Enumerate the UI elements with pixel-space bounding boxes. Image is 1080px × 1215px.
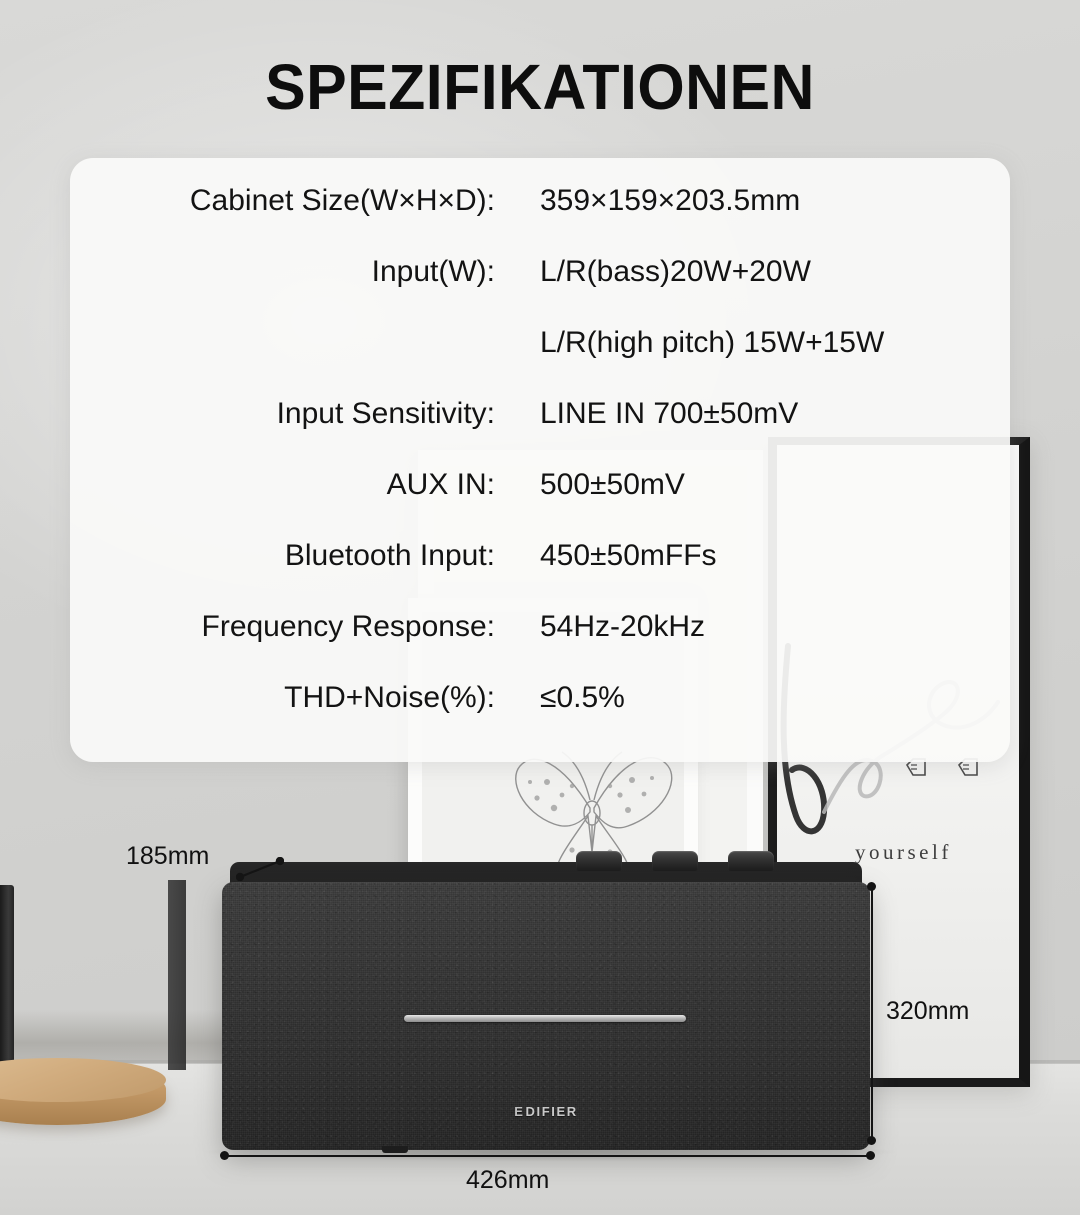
spec-value: ≤0.5% bbox=[495, 681, 1010, 715]
dimension-leader-depth bbox=[236, 857, 284, 881]
spec-value: 500±50mV bbox=[495, 468, 1010, 502]
speaker-grille-body: EDIFIER bbox=[222, 882, 870, 1150]
dimension-dot-height-bottom bbox=[867, 1136, 876, 1145]
dimension-dot-height-top bbox=[867, 882, 876, 891]
spec-label: Cabinet Size(W×H×D): bbox=[70, 184, 495, 218]
spec-value: L/R(high pitch) 15W+15W bbox=[495, 326, 1010, 360]
dimension-label-width: 426mm bbox=[466, 1166, 549, 1195]
speaker-brand-logo: EDIFIER bbox=[222, 1104, 870, 1119]
spec-label: THD+Noise(%): bbox=[70, 681, 495, 715]
page-title: SPEZIFIKATIONEN bbox=[27, 50, 1053, 124]
spec-row: Input(W):L/R(bass)20W+20W bbox=[70, 255, 1010, 326]
speaker-knob-1[interactable] bbox=[576, 851, 622, 871]
spec-row: Bluetooth Input:450±50mFFs bbox=[70, 539, 1010, 610]
dimension-line-width bbox=[224, 1155, 870, 1157]
spec-value: LINE IN 700±50mV bbox=[495, 397, 1010, 431]
specifications-table: Cabinet Size(W×H×D):359×159×203.5mmInput… bbox=[70, 184, 1010, 752]
spec-label: Input Sensitivity: bbox=[70, 397, 495, 431]
dimension-dot-width-right bbox=[866, 1151, 875, 1160]
spec-row: AUX IN:500±50mV bbox=[70, 468, 1010, 539]
spec-label: Input(W): bbox=[70, 255, 495, 289]
spec-value: 54Hz-20kHz bbox=[495, 610, 1010, 644]
brand-rest: DIFIER bbox=[526, 1104, 578, 1119]
dimension-dot-width-left bbox=[220, 1151, 229, 1160]
lamp-pole bbox=[0, 885, 14, 1070]
dimension-label-depth: 185mm bbox=[126, 842, 209, 871]
spec-value: L/R(bass)20W+20W bbox=[495, 255, 1010, 289]
dimension-label-height: 320mm bbox=[886, 997, 969, 1026]
spec-row: Input Sensitivity:LINE IN 700±50mV bbox=[70, 397, 1010, 468]
speaker-knob-2[interactable] bbox=[652, 851, 698, 871]
spec-row: Cabinet Size(W×H×D):359×159×203.5mm bbox=[70, 184, 1010, 255]
edifier-speaker: EDIFIER bbox=[222, 862, 870, 1150]
brand-initial: E bbox=[514, 1104, 524, 1119]
wall-shadow bbox=[0, 1010, 250, 1065]
spec-row: THD+Noise(%):≤0.5% bbox=[70, 681, 1010, 752]
spec-label: Frequency Response: bbox=[70, 610, 495, 644]
speaker-knob-3[interactable] bbox=[728, 851, 774, 871]
specifications-panel: Cabinet Size(W×H×D):359×159×203.5mmInput… bbox=[70, 158, 1010, 762]
speaker-silver-bar bbox=[404, 1015, 686, 1022]
speaker-foot bbox=[382, 1146, 408, 1153]
spec-value: 359×159×203.5mm bbox=[495, 184, 1010, 218]
spec-row: Frequency Response:54Hz-20kHz bbox=[70, 610, 1010, 681]
product-spec-scene: yourself EDIFIER SPEZIFIKATIONEN Cabinet… bbox=[0, 0, 1080, 1215]
spec-label: AUX IN: bbox=[70, 468, 495, 502]
spec-row: L/R(high pitch) 15W+15W bbox=[70, 326, 1010, 397]
spec-value: 450±50mFFs bbox=[495, 539, 1010, 573]
dark-panel-left bbox=[168, 880, 186, 1070]
dimension-line-height bbox=[871, 886, 873, 1140]
spec-label: Bluetooth Input: bbox=[70, 539, 495, 573]
